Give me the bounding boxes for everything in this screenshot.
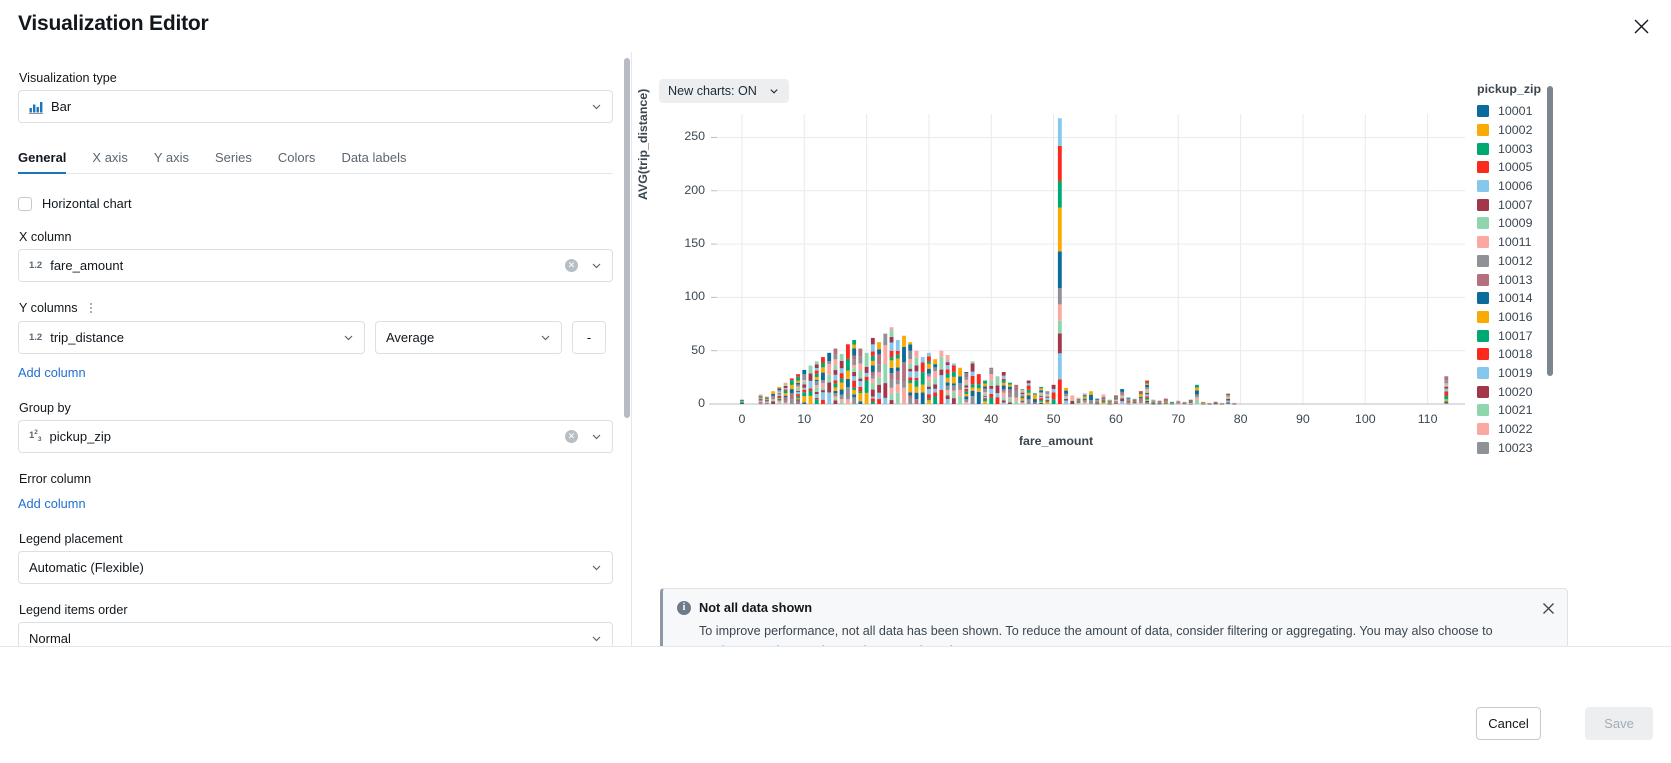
legend-item-label: 10020 (1498, 385, 1532, 399)
legend-item-label: 10012 (1498, 254, 1532, 268)
legend-swatch (1477, 348, 1489, 360)
legend-swatch (1477, 199, 1489, 211)
chevron-down-icon (591, 101, 602, 112)
legend-title: pickup_zip (1477, 82, 1597, 96)
legend-items-order-label: Legend items order (19, 603, 613, 617)
column-type-icon-integer: 123 (29, 429, 42, 443)
legend-swatch (1477, 274, 1489, 286)
legend-item[interactable]: 10023 (1477, 438, 1597, 457)
chart-plot: AVG(trip_distance) fare_amount 050100150… (641, 104, 1471, 464)
legend-item-label: 10016 (1498, 310, 1532, 324)
close-icon[interactable] (1540, 600, 1556, 616)
tab-colors[interactable]: Colors (278, 150, 316, 173)
settings-panel: Visualization type Bar General X axis Y … (0, 52, 632, 646)
info-icon: i (677, 601, 691, 615)
chevron-down-icon (591, 562, 602, 573)
x-axis-tick-label: 80 (1234, 412, 1248, 426)
x-axis-tick-label: 90 (1296, 412, 1310, 426)
legend-item-label: 10018 (1498, 347, 1532, 361)
tab-series[interactable]: Series (215, 150, 252, 173)
bar-chart-icon (29, 100, 43, 114)
error-column-label: Error column (19, 472, 613, 486)
close-icon[interactable] (1629, 14, 1653, 38)
scrollbar-thumb[interactable] (624, 58, 630, 418)
legend-item-label: 10006 (1498, 179, 1532, 193)
new-charts-label: New charts: ON (668, 84, 757, 98)
legend-item[interactable]: 10013 (1477, 270, 1597, 289)
tab-x-axis[interactable]: X axis (92, 150, 127, 173)
cancel-button[interactable]: Cancel (1476, 707, 1541, 740)
add-column-y-link[interactable]: Add column (18, 365, 86, 380)
legend-item[interactable]: 10014 (1477, 289, 1597, 308)
legend-item[interactable]: 10005 (1477, 158, 1597, 177)
legend-placement-label: Legend placement (19, 532, 613, 546)
legend-swatch (1477, 161, 1489, 173)
alert-title-row: i Not all data shown (677, 600, 1553, 615)
legend-scrollbar[interactable] (1547, 86, 1553, 416)
alert-title: Not all data shown (699, 600, 812, 615)
legend-swatch (1477, 386, 1489, 398)
y-axis-tick-label: 0 (661, 396, 705, 410)
legend-item-label: 10005 (1498, 160, 1532, 174)
chart-legend: pickup_zip 10001100021000310005100061000… (1477, 82, 1597, 462)
x-column-label: X column (19, 230, 613, 244)
legend-item-label: 10011 (1498, 235, 1532, 249)
x-axis-tick-label: 40 (984, 412, 998, 426)
add-column-error-link[interactable]: Add column (18, 496, 86, 511)
new-charts-toggle[interactable]: New charts: ON (659, 79, 789, 103)
legend-item[interactable]: 10006 (1477, 177, 1597, 196)
y-column-remove-button[interactable]: - (572, 321, 606, 354)
legend-item-label: 10022 (1498, 422, 1532, 436)
visualization-type-select[interactable]: Bar (18, 90, 613, 123)
modal-header: Visualization Editor (0, 0, 1671, 52)
legend-swatch (1477, 217, 1489, 229)
legend-item-label: 10023 (1498, 441, 1532, 455)
legend-swatch (1477, 143, 1489, 155)
page-title: Visualization Editor (18, 12, 208, 36)
x-axis-tick-label: 100 (1355, 412, 1376, 426)
x-column-value: fare_amount (50, 258, 565, 273)
legend-item-label: 10009 (1498, 216, 1532, 230)
y-aggregation-select[interactable]: Average (375, 321, 562, 354)
x-axis-tick-label: 60 (1109, 412, 1123, 426)
legend-item-label: 10007 (1498, 198, 1532, 212)
y-column-value: trip_distance (50, 330, 337, 345)
legend-placement-value: Automatic (Flexible) (29, 560, 585, 575)
column-type-icon-numeric: 1.2 (29, 260, 42, 271)
tab-general[interactable]: General (18, 150, 66, 173)
tab-data-labels[interactable]: Data labels (341, 150, 406, 173)
x-axis-tick-label: 20 (860, 412, 874, 426)
legend-swatch (1477, 292, 1489, 304)
legend-item[interactable]: 10002 (1477, 121, 1597, 140)
x-axis-tick-label: 30 (922, 412, 936, 426)
modal-footer: Cancel Save (0, 646, 1671, 763)
y-columns-label: Y columns (19, 301, 78, 315)
x-axis-tick-label: 10 (797, 412, 811, 426)
y-axis-tick-label: 100 (661, 289, 705, 303)
x-axis-tick-label: 70 (1171, 412, 1185, 426)
chevron-down-icon (591, 260, 602, 271)
x-axis-tick-label: 50 (1047, 412, 1061, 426)
x-axis-tick-label: 110 (1418, 412, 1438, 426)
chevron-down-icon (591, 633, 602, 644)
group-by-value: pickup_zip (50, 429, 565, 444)
y-columns-row: 1.2 trip_distance Average - (18, 321, 613, 354)
y-column-remove-label: - (587, 330, 591, 345)
chevron-down-icon (769, 86, 780, 97)
y-axis-tick-label: 150 (661, 236, 705, 250)
legend-item[interactable]: 10019 (1477, 364, 1597, 383)
visualization-type-label: Visualization type (19, 71, 613, 85)
chart-preview-area: New charts: ON AVG(trip_distance) fare_a… (641, 52, 1671, 646)
legend-items: 1000110002100031000510006100071000910011… (1477, 102, 1597, 457)
group-by-select[interactable]: 123 pickup_zip ✕ (18, 420, 613, 453)
legend-swatch (1477, 255, 1489, 267)
y-aggregation-value: Average (386, 330, 534, 345)
legend-item-label: 10013 (1498, 273, 1532, 287)
chart-svg (641, 104, 1471, 434)
chevron-down-icon (540, 332, 551, 343)
legend-item[interactable]: 10012 (1477, 252, 1597, 271)
legend-swatch (1477, 105, 1489, 117)
legend-item[interactable]: 10007 (1477, 195, 1597, 214)
more-options-icon[interactable] (87, 301, 95, 315)
visualization-type-value: Bar (51, 99, 585, 114)
y-column-select[interactable]: 1.2 trip_distance (18, 321, 365, 354)
legend-item[interactable]: 10022 (1477, 420, 1597, 439)
clear-icon[interactable]: ✕ (565, 259, 578, 272)
legend-swatch (1477, 367, 1489, 379)
horizontal-chart-label: Horizontal chart (42, 196, 132, 211)
legend-swatch (1477, 330, 1489, 342)
scrollbar-thumb[interactable] (1547, 86, 1553, 376)
legend-item-label: 10021 (1498, 403, 1532, 417)
legend-item-label: 10002 (1498, 123, 1532, 137)
y-axis-tick-label: 250 (661, 129, 705, 143)
legend-placement-select[interactable]: Automatic (Flexible) (18, 551, 613, 584)
chevron-down-icon (591, 431, 602, 442)
legend-swatch (1477, 236, 1489, 248)
legend-swatch (1477, 124, 1489, 136)
group-by-label: Group by (19, 401, 613, 415)
legend-items-order-select[interactable]: Normal (18, 622, 613, 646)
horizontal-chart-row[interactable]: Horizontal chart (18, 196, 613, 211)
legend-item[interactable]: 10011 (1477, 233, 1597, 252)
legend-item-label: 10001 (1498, 104, 1532, 118)
legend-item[interactable]: 10020 (1477, 382, 1597, 401)
legend-item-label: 10014 (1498, 291, 1532, 305)
legend-swatch (1477, 180, 1489, 192)
legend-item[interactable]: 10009 (1477, 214, 1597, 233)
y-axis-title: AVG(trip_distance) (636, 89, 650, 200)
y-columns-header: Y columns (18, 301, 613, 315)
legend-swatch (1477, 423, 1489, 435)
column-type-icon-numeric: 1.2 (29, 332, 42, 343)
chevron-down-icon (343, 332, 354, 343)
settings-panel-scrollbar[interactable] (624, 58, 630, 638)
horizontal-chart-checkbox[interactable] (18, 197, 32, 211)
x-column-select[interactable]: 1.2 fare_amount ✕ (18, 249, 613, 282)
legend-items-order-value: Normal (29, 631, 585, 646)
legend-swatch (1477, 311, 1489, 323)
legend-swatch (1477, 442, 1489, 454)
y-axis-tick-label: 50 (661, 343, 705, 357)
legend-item-label: 10003 (1498, 142, 1532, 156)
legend-item-label: 10017 (1498, 329, 1532, 343)
tab-y-axis[interactable]: Y axis (154, 150, 189, 173)
legend-item[interactable]: 10018 (1477, 345, 1597, 364)
clear-icon[interactable]: ✕ (565, 430, 578, 443)
legend-item[interactable]: 10016 (1477, 308, 1597, 327)
legend-swatch (1477, 404, 1489, 416)
x-axis-tick-label: 0 (738, 412, 745, 426)
legend-item[interactable]: 10017 (1477, 326, 1597, 345)
save-button: Save (1585, 707, 1653, 740)
legend-item-label: 10019 (1498, 366, 1532, 380)
legend-item[interactable]: 10001 (1477, 102, 1597, 121)
alert-body-part-1: To improve performance, not all data has… (699, 624, 1493, 638)
y-axis-tick-label: 200 (661, 183, 705, 197)
legend-item[interactable]: 10003 (1477, 139, 1597, 158)
settings-tabs: General X axis Y axis Series Colors Data… (18, 143, 613, 174)
x-axis-title: fare_amount (641, 434, 1471, 448)
legend-item[interactable]: 10021 (1477, 401, 1597, 420)
